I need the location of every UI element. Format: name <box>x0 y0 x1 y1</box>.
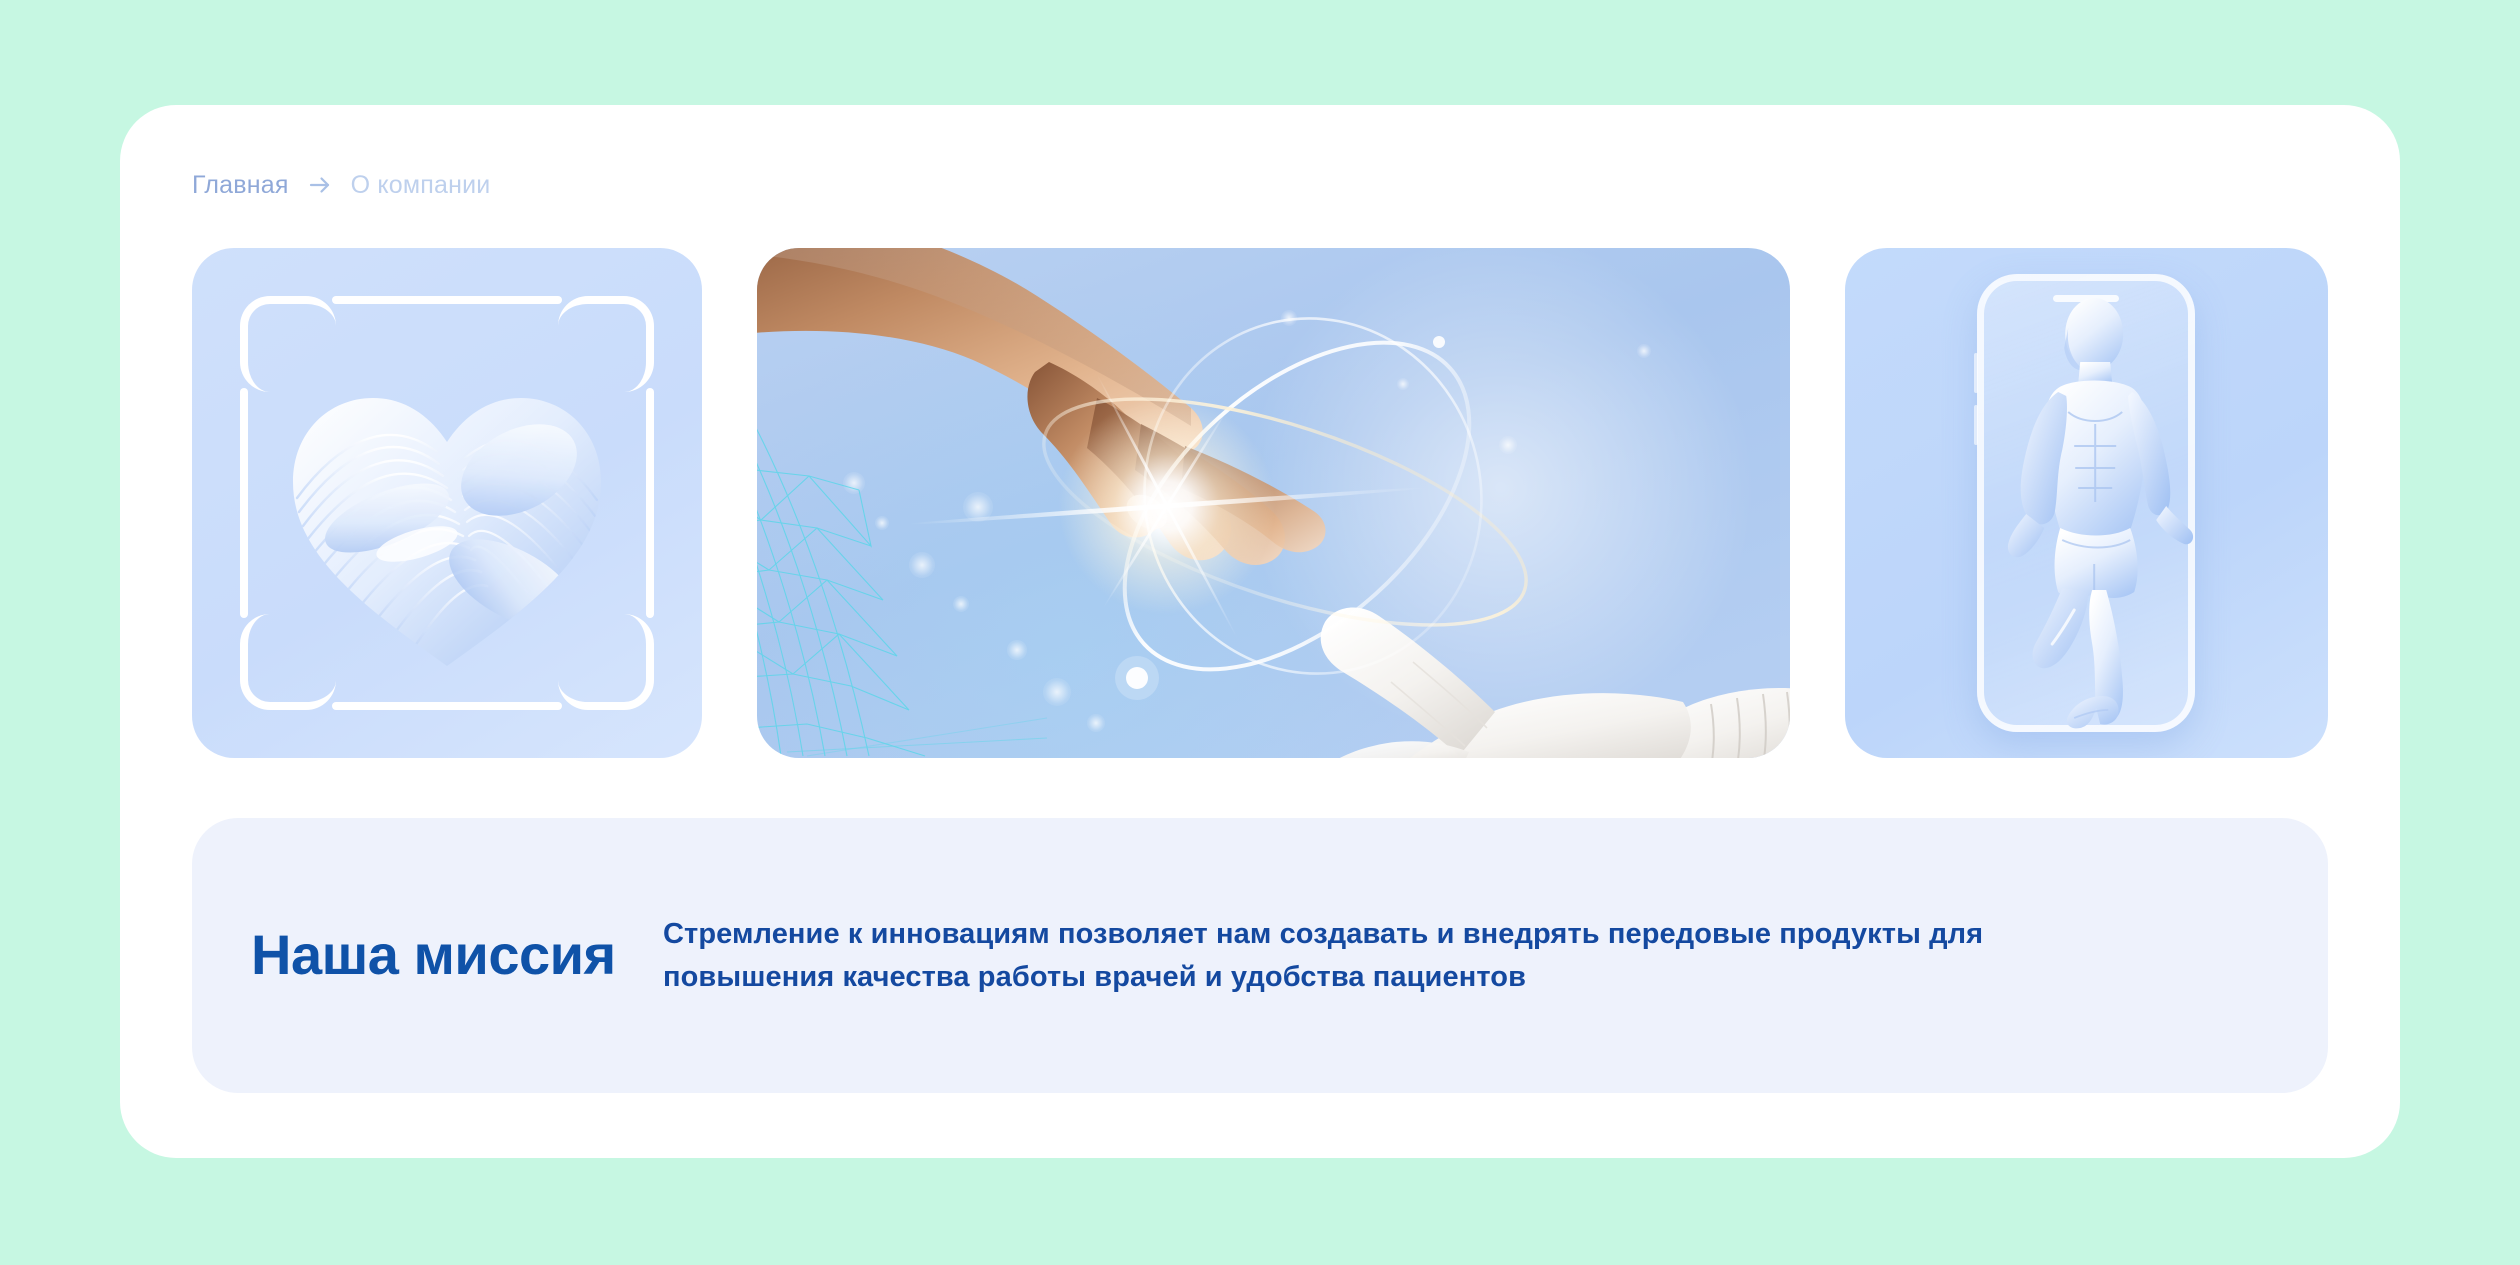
image-gallery <box>192 248 2328 758</box>
arrow-right-icon <box>307 172 333 198</box>
breadcrumb: Главная О компании <box>192 168 490 202</box>
content-card: Главная О компании <box>120 105 2400 1158</box>
heart-scan-card <box>192 248 702 758</box>
mission-panel: Наша миссия Стремление к инновациям позв… <box>192 818 2328 1093</box>
touch-scene <box>757 248 1790 758</box>
runner-figure-illustration <box>1962 292 2222 732</box>
mission-title: Наша миссия <box>251 926 651 985</box>
heart-illustration <box>267 348 627 678</box>
runner-phone-card <box>1845 248 2328 758</box>
touching-hands-card <box>757 248 1790 758</box>
breadcrumb-home-link[interactable]: Главная <box>192 168 289 202</box>
breadcrumb-current-page: О компании <box>351 168 491 202</box>
mission-description: Стремление к инновациям позволяет нам со… <box>663 913 1993 997</box>
page-root: Главная О компании <box>0 0 2520 1265</box>
